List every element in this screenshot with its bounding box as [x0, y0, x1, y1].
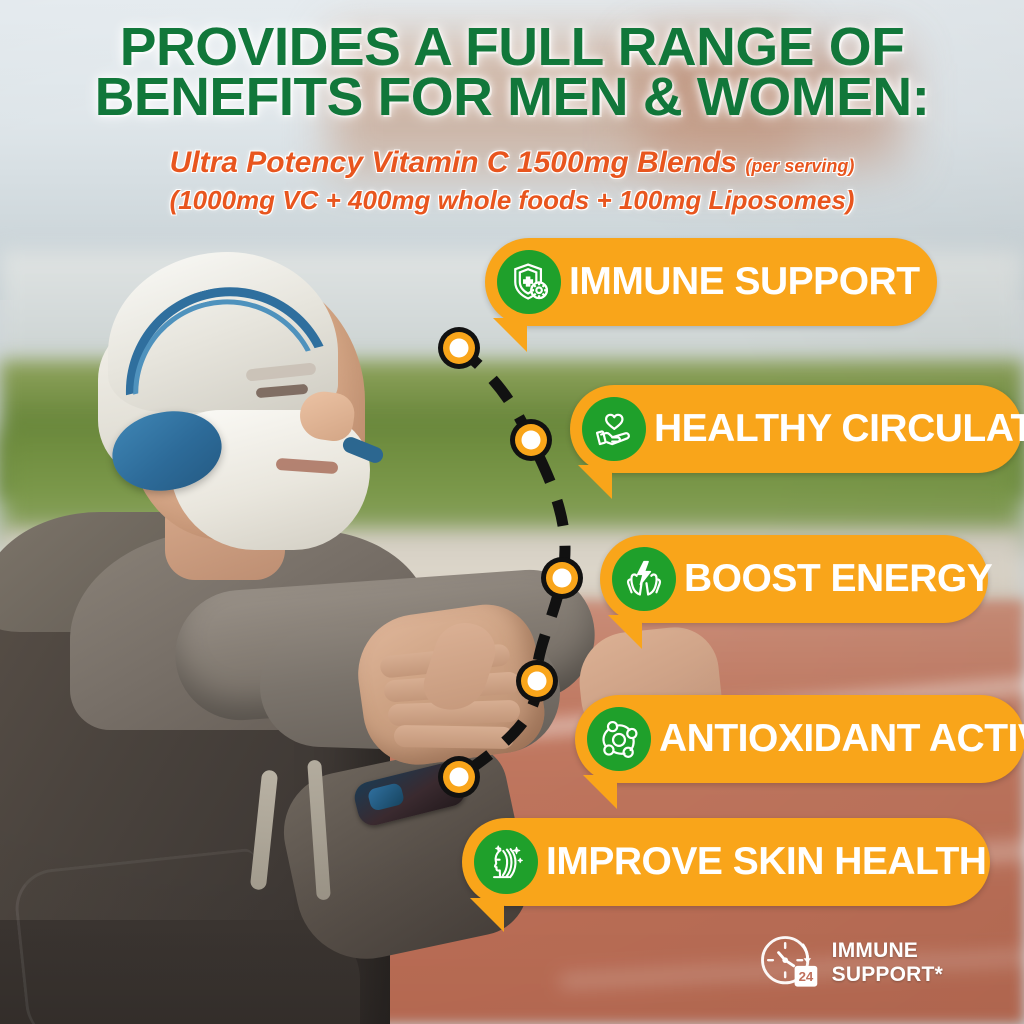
benefit-badge-healthy-circulation[interactable]: HEALTHY CIRCULATION: [570, 385, 1022, 473]
subtitle-blend-breakdown: (1000mg VC + 400mg whole foods + 100mg L…: [0, 183, 1024, 217]
hands-lightning-icon: [612, 547, 676, 611]
footer-logo-label: IMMUNE SUPPORT*: [832, 939, 1024, 987]
man-hoodie-pocket: [12, 848, 272, 1024]
shield-cross-icon: [497, 250, 561, 314]
page-subtitle: Ultra Potency Vitamin C 1500mg Blends (p…: [0, 146, 1024, 217]
hand-heart-icon: [582, 397, 646, 461]
face-sparkle-icon: [474, 830, 538, 894]
benefit-badge-improve-skin-health[interactable]: IMPROVE SKIN HEALTH: [462, 818, 990, 906]
benefit-badge-boost-energy[interactable]: BOOST ENERGY: [600, 535, 988, 623]
page-title-line-2: BENEFITS FOR MEN & WOMEN:: [0, 72, 1024, 122]
badge-tail: [578, 465, 612, 499]
subtitle-main: Ultra Potency Vitamin C 1500mg Blends: [170, 146, 737, 179]
benefit-label: IMMUNE SUPPORT: [569, 262, 942, 302]
badge-tail: [608, 615, 642, 649]
benefit-badge-immune-support[interactable]: IMMUNE SUPPORT: [485, 238, 937, 326]
benefit-label: IMPROVE SKIN HEALTH: [546, 842, 1008, 882]
benefit-label: HEALTHY CIRCULATION: [654, 409, 1024, 449]
benefit-badge-antioxidant-activity[interactable]: ANTIOXIDANT ACTIVITY: [575, 695, 1024, 783]
badge-tail: [583, 775, 617, 809]
infographic-canvas: PROVIDES A FULL RANGE OF BENEFITS FOR ME…: [0, 0, 1024, 1024]
benefit-label: ANTIOXIDANT ACTIVITY: [659, 719, 1024, 759]
molecule-icon: [587, 707, 651, 771]
benefit-label: BOOST ENERGY: [684, 559, 1014, 599]
subtitle-per-serving-note: (per serving): [745, 156, 854, 176]
man-finger: [394, 725, 514, 749]
clock-badge-number: 24: [799, 969, 814, 984]
badge-tail: [493, 318, 527, 352]
page-title: PROVIDES A FULL RANGE OF BENEFITS FOR ME…: [0, 22, 1024, 122]
footer-immune-support-logo: 24 IMMUNE SUPPORT*: [754, 930, 1024, 996]
badge-tail: [470, 898, 504, 932]
clock-24h-icon: 24: [754, 930, 828, 996]
